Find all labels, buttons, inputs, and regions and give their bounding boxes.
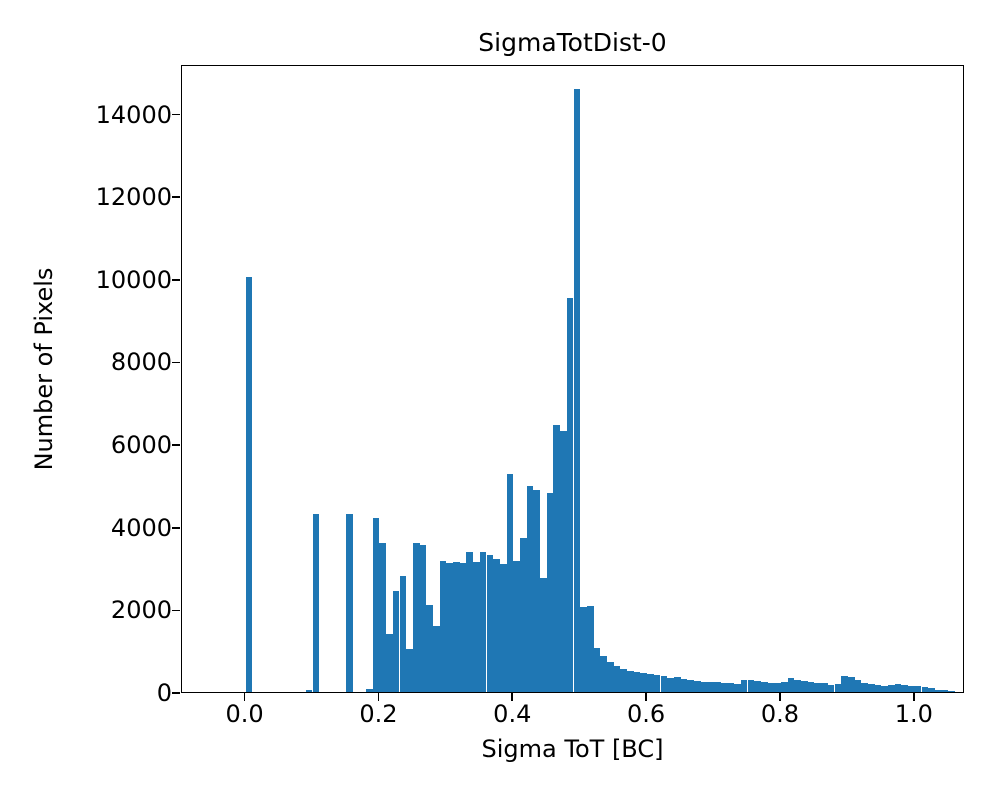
- histogram-bar: [567, 298, 574, 692]
- histogram-bar: [888, 685, 895, 692]
- histogram-bar: [420, 545, 427, 692]
- histogram-bar: [533, 490, 540, 692]
- histogram-bar: [493, 559, 500, 692]
- histogram-bar: [681, 679, 688, 692]
- x-tick-mark: [779, 693, 781, 701]
- histogram-bar: [714, 682, 721, 692]
- histogram-bars: [182, 66, 963, 692]
- x-tick-label: 0.2: [359, 700, 397, 728]
- y-tick-label: 8000: [111, 350, 172, 374]
- histogram-bar: [594, 648, 601, 692]
- histogram-bar: [654, 675, 661, 692]
- histogram-bar: [861, 683, 868, 692]
- histogram-bar: [908, 686, 915, 692]
- histogram-bar: [761, 682, 768, 692]
- plot-area: [181, 65, 964, 693]
- histogram-bar: [781, 682, 788, 692]
- y-tick-mark: [172, 527, 180, 529]
- histogram-bar: [620, 669, 627, 692]
- y-tick-mark: [172, 444, 180, 446]
- histogram-bar: [500, 564, 507, 692]
- histogram-bar: [835, 684, 842, 692]
- histogram-bar: [768, 683, 775, 692]
- histogram-bar: [814, 683, 821, 692]
- y-tick-mark: [172, 692, 180, 694]
- y-tick-label: 2000: [111, 598, 172, 622]
- x-tick-label: 0.4: [493, 700, 531, 728]
- y-tick-mark: [172, 362, 180, 364]
- histogram-bar: [460, 563, 467, 692]
- histogram-bar: [406, 649, 413, 692]
- histogram-bar: [901, 685, 908, 692]
- histogram-bar: [426, 605, 433, 692]
- x-tick-label: 0.8: [761, 700, 799, 728]
- histogram-bar: [647, 674, 654, 692]
- histogram-bar: [640, 673, 647, 692]
- histogram-bar: [373, 518, 380, 692]
- histogram-bar: [379, 543, 386, 692]
- histogram-bar: [440, 561, 447, 692]
- histogram-bar: [366, 689, 373, 692]
- x-tick-mark: [244, 693, 246, 701]
- histogram-bar: [574, 89, 581, 692]
- histogram-bar: [828, 685, 835, 692]
- x-axis-label: Sigma ToT [BC]: [181, 735, 964, 763]
- histogram-bar: [687, 680, 694, 692]
- histogram-bar: [453, 562, 460, 692]
- y-tick-mark: [172, 279, 180, 281]
- histogram-bar: [446, 563, 453, 692]
- y-tick-label: 12000: [96, 185, 172, 209]
- x-tick-mark: [378, 693, 380, 701]
- histogram-bar: [520, 538, 527, 692]
- histogram-bar: [553, 425, 560, 692]
- histogram-bar: [466, 552, 473, 692]
- histogram-bar: [513, 561, 520, 692]
- histogram-bar: [788, 678, 795, 692]
- histogram-bar: [875, 685, 882, 692]
- histogram-bar: [634, 672, 641, 692]
- histogram-bar: [734, 684, 741, 692]
- x-tick-mark: [645, 693, 647, 701]
- histogram-bar: [667, 678, 674, 692]
- histogram-bar: [922, 687, 929, 692]
- histogram-bar: [540, 578, 547, 692]
- y-axis-tick-labels: 02000400060008000100001200014000: [0, 0, 172, 800]
- histogram-bar: [480, 552, 487, 692]
- histogram-bar: [881, 686, 888, 692]
- histogram-bar: [794, 680, 801, 692]
- histogram-bar: [661, 676, 668, 692]
- histogram-bar: [808, 682, 815, 692]
- x-tick-label: 0.0: [225, 700, 263, 728]
- histogram-bar: [895, 684, 902, 692]
- histogram-bar: [848, 677, 855, 692]
- histogram-bar: [473, 562, 480, 692]
- y-tick-mark: [172, 610, 180, 612]
- histogram-bar: [741, 680, 748, 692]
- histogram-bar: [841, 676, 848, 692]
- histogram-bar: [801, 681, 808, 692]
- histogram-bar: [306, 690, 313, 692]
- y-tick-label: 10000: [96, 268, 172, 292]
- histogram-bar: [701, 682, 708, 692]
- histogram-bar: [928, 688, 935, 692]
- histogram-bar: [942, 690, 949, 692]
- histogram-bar: [868, 684, 875, 692]
- histogram-bar: [527, 486, 534, 692]
- histogram-bar: [313, 514, 320, 692]
- chart-figure: SigmaTotDist-0 Number of Pixels 02000400…: [0, 0, 1000, 800]
- y-tick-label: 6000: [111, 433, 172, 457]
- histogram-bar: [727, 683, 734, 692]
- histogram-bar: [587, 606, 594, 692]
- x-tick-label: 1.0: [895, 700, 933, 728]
- histogram-bar: [748, 680, 755, 692]
- histogram-bar: [607, 662, 614, 692]
- x-tick-mark: [913, 693, 915, 701]
- y-tick-mark: [172, 196, 180, 198]
- x-axis-tick-labels: 0.00.20.40.60.81.0: [0, 700, 1000, 740]
- y-tick-label: 4000: [111, 516, 172, 540]
- histogram-bar: [821, 683, 828, 692]
- histogram-bar: [346, 514, 353, 692]
- histogram-bar: [580, 607, 587, 692]
- histogram-bar: [721, 683, 728, 693]
- histogram-bar: [627, 671, 634, 692]
- histogram-bar: [560, 431, 567, 692]
- chart-title: SigmaTotDist-0: [181, 28, 964, 58]
- x-tick-mark: [511, 693, 513, 701]
- y-tick-label: 14000: [96, 103, 172, 127]
- histogram-bar: [246, 277, 253, 692]
- histogram-bar: [547, 493, 554, 692]
- histogram-bar: [433, 626, 440, 692]
- histogram-bar: [948, 691, 955, 692]
- histogram-bar: [674, 677, 681, 692]
- histogram-bar: [774, 683, 781, 693]
- histogram-bar: [413, 543, 420, 692]
- histogram-bar: [600, 656, 607, 692]
- x-tick-label: 0.6: [627, 700, 665, 728]
- histogram-bar: [393, 591, 400, 692]
- histogram-bar: [386, 634, 393, 692]
- histogram-bar: [855, 680, 862, 692]
- histogram-bar: [487, 555, 494, 692]
- histogram-bar: [507, 474, 514, 692]
- histogram-bar: [707, 682, 714, 692]
- histogram-bar: [694, 681, 701, 692]
- histogram-bar: [614, 666, 621, 692]
- histogram-bar: [754, 681, 761, 692]
- histogram-bar: [400, 576, 407, 692]
- histogram-bar: [935, 690, 942, 692]
- y-tick-mark: [172, 114, 180, 116]
- histogram-bar: [915, 686, 922, 692]
